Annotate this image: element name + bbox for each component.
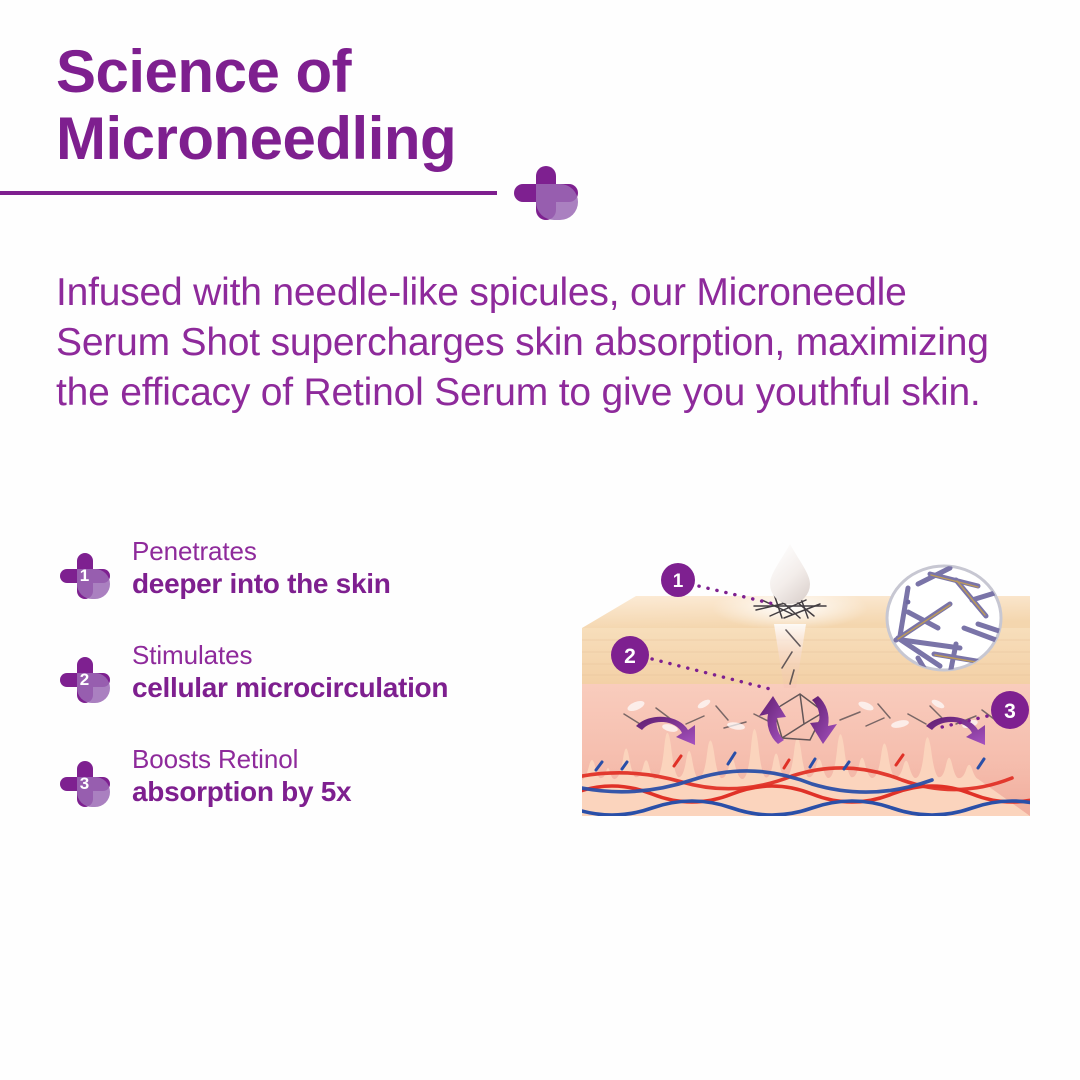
skin-cross-section-diagram: 1 2 3 — [578, 528, 1038, 824]
benefit-badge-3: 3 — [60, 761, 110, 807]
marker-1: 1 — [661, 563, 695, 597]
page-title: Science of Microneedling — [56, 38, 676, 172]
benefit-highlight: deeper into the skin — [132, 567, 576, 601]
benefit-number: 2 — [60, 657, 110, 703]
marker-2: 2 — [611, 636, 649, 674]
intro-paragraph: Infused with needle-like spicules, our M… — [56, 268, 991, 418]
benefit-number: 3 — [60, 761, 110, 807]
svg-text:2: 2 — [624, 645, 636, 668]
marker-3: 3 — [991, 691, 1029, 729]
benefit-highlight: cellular microcirculation — [132, 671, 576, 705]
benefit-badge-1: 1 — [60, 553, 110, 599]
benefit-list: 1 Penetrates deeper into the skin 2 Stim… — [56, 536, 576, 848]
title-divider — [0, 191, 497, 195]
svg-text:1: 1 — [673, 571, 684, 592]
list-item: 3 Boosts Retinol absorption by 5x — [56, 744, 576, 848]
poster-canvas: Science of Microneedling Infused with ne… — [0, 0, 1080, 1080]
benefit-number: 1 — [60, 553, 110, 599]
benefit-text-2: Stimulates cellular microcirculation — [132, 640, 576, 705]
benefit-highlight: absorption by 5x — [132, 775, 576, 809]
benefit-text-3: Boosts Retinol absorption by 5x — [132, 744, 576, 809]
benefit-text-1: Penetrates deeper into the skin — [132, 536, 576, 601]
benefit-lead: Stimulates — [132, 640, 576, 671]
plus-cross-icon — [514, 166, 578, 220]
benefit-lead: Penetrates — [132, 536, 576, 567]
serum-droplet — [770, 544, 810, 604]
svg-text:3: 3 — [1004, 700, 1016, 723]
benefit-lead: Boosts Retinol — [132, 744, 576, 775]
list-item: 1 Penetrates deeper into the skin — [56, 536, 576, 640]
benefit-badge-2: 2 — [60, 657, 110, 703]
cross-overlay-shape — [536, 184, 578, 220]
list-item: 2 Stimulates cellular microcirculation — [56, 640, 576, 744]
